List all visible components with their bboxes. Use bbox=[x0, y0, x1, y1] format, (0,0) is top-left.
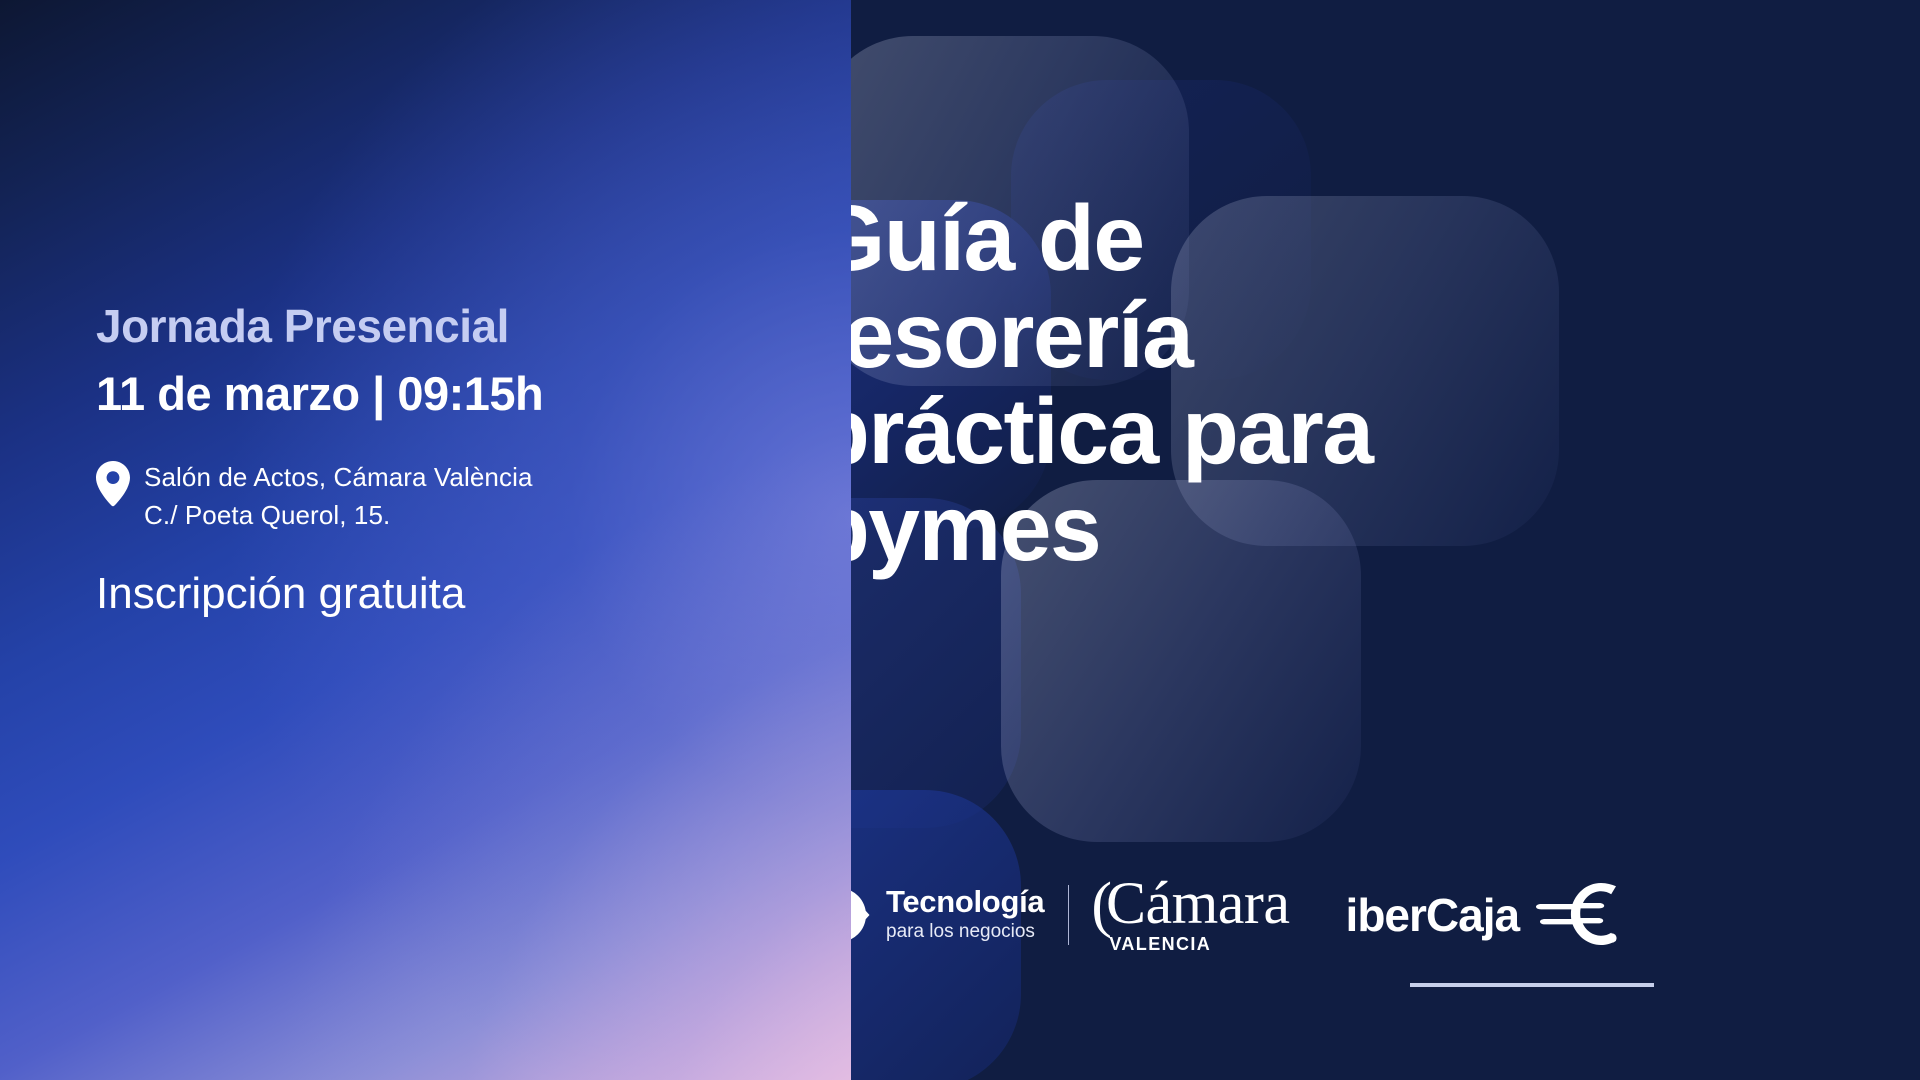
ibercaja-word: iberCaja bbox=[1346, 892, 1520, 938]
camara-subtitle: VALENCIA bbox=[1109, 934, 1289, 955]
event-location: Salón de Actos, Cámara València C./ Poet… bbox=[96, 459, 796, 534]
euro-symbol-icon bbox=[1533, 879, 1619, 951]
circle-c-chevron-icon bbox=[851, 884, 874, 946]
logo-ibercaja: iberCaja bbox=[1346, 879, 1620, 951]
tecnologia-wordmark: Tecnología para los negocios bbox=[886, 886, 1044, 943]
location-line-1: Salón de Actos, Cámara València bbox=[144, 459, 533, 497]
location-pin-icon bbox=[96, 461, 130, 507]
page-title: Guía de tesorería práctica para pymes bbox=[851, 190, 1533, 577]
location-line-2: C./ Poeta Querol, 15. bbox=[144, 497, 533, 535]
camara-paren-mark: ( bbox=[1091, 879, 1112, 932]
event-details-block: Jornada Presencial 11 de marzo | 09:15h … bbox=[96, 300, 796, 621]
event-kicker: Jornada Presencial bbox=[96, 300, 796, 353]
logo-divider bbox=[1068, 885, 1069, 945]
logo-tecnologia: Tecnología para los negocios bbox=[851, 884, 1044, 946]
camara-word: Cámara bbox=[1106, 876, 1290, 930]
event-poster: Jornada Presencial 11 de marzo | 09:15h … bbox=[0, 0, 1920, 1080]
registration-note: Inscripción gratuita bbox=[96, 568, 796, 621]
sponsor-logos: Tecnología para los negocios ( Cámara VA… bbox=[851, 855, 1822, 975]
ibercaja-underline bbox=[1410, 983, 1654, 987]
right-title-panel: Guía de tesorería práctica para pymes Te… bbox=[851, 0, 1920, 1080]
camara-wordmark: ( Cámara bbox=[1091, 876, 1289, 930]
location-text: Salón de Actos, Cámara València C./ Poet… bbox=[144, 459, 533, 534]
event-datetime: 11 de marzo | 09:15h bbox=[96, 367, 796, 421]
logo-camara: ( Cámara VALENCIA bbox=[1091, 876, 1289, 955]
tecnologia-line-2: para los negocios bbox=[886, 920, 1044, 944]
tecnologia-line-1: Tecnología bbox=[886, 886, 1044, 918]
left-info-panel: Jornada Presencial 11 de marzo | 09:15h … bbox=[0, 0, 851, 1080]
